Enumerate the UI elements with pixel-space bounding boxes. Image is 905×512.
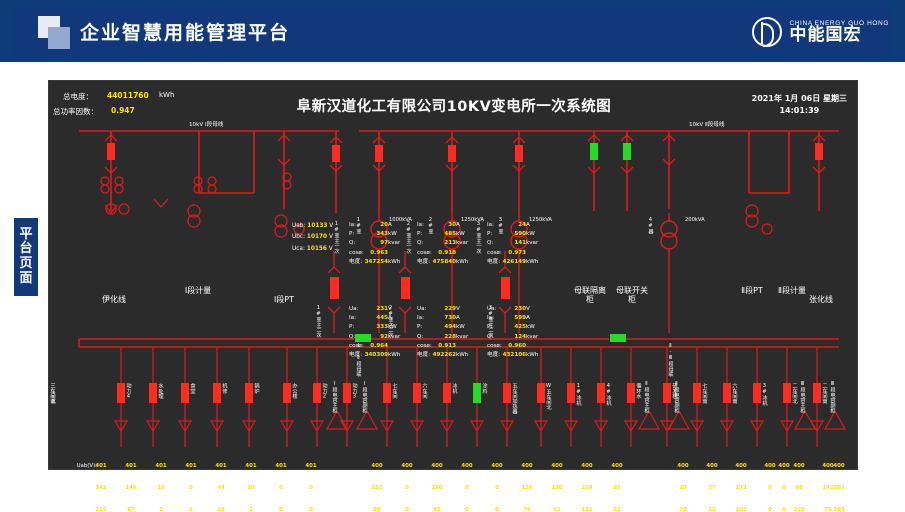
uab-value: 10133 — [307, 223, 327, 229]
lv-meter-3-row-4: cosø:0.960 — [487, 342, 538, 351]
guohong-circle-logo-icon — [752, 17, 782, 47]
hv-meter-1-value-4: 347254 — [362, 258, 388, 267]
table-mid-cell-r1-c1: 400 — [364, 463, 390, 469]
hv-meter-3: Ia:24AP:590kWQ:141kvarcosø:0.973电度:42614… — [487, 221, 538, 267]
transformer-tag-1: 1#变 — [355, 217, 360, 234]
hv-meter-2-row-1: P:485kW — [417, 230, 468, 239]
table-mid-cell-r2-c9: 95 — [604, 485, 630, 491]
lv-meter-3-value-5: 432106 — [500, 351, 526, 360]
table-right-cell-r3-c1: 20 — [670, 507, 696, 512]
table-left-cell-r3-c8: 0 — [298, 507, 324, 512]
uca-label: Uca: — [292, 246, 305, 252]
table-right-cell-r1-c1: 400 — [670, 463, 696, 469]
hv-meter-2-value-1: 485 — [430, 230, 456, 239]
lv-meter-3-unit-2: kW — [526, 323, 535, 332]
lv-meter-3-key-5: 电度: — [487, 351, 500, 360]
hv-meter-2-key-3: cosø: — [417, 249, 430, 258]
lv-meter-1-value-5: 340309 — [362, 351, 388, 360]
table-left-cell-r1-c4: 401 — [178, 463, 204, 469]
table-mid-cell-r1-c5: 400 — [484, 463, 510, 469]
lv-meter-2-value-3: 228 — [430, 333, 456, 342]
hv-meter-2-row-3: cosø:0.918 — [417, 249, 468, 258]
table-left-cell-r1-c3: 401 — [148, 463, 174, 469]
table-mid-cell-r3-c8: 121 — [574, 507, 600, 512]
table-right-cell-r3-c3: 102 — [728, 507, 754, 512]
hv-meter-2-value-2: 213 — [430, 239, 456, 248]
hv-meter-2-unit-1: kW — [456, 230, 465, 239]
lv-meter-2-key-3: Q: — [417, 333, 430, 342]
ubc-value: 10170 — [307, 234, 327, 240]
transformer-kva-4: 200kVA — [685, 217, 705, 223]
table-mid-cell-r1-c7: 400 — [544, 463, 570, 469]
table-left-cell-r2-c6: 10 — [238, 485, 264, 491]
hv-meter-3-row-2: Q:141kvar — [487, 239, 538, 248]
table-mid-cell-r2-c3: 150 — [424, 485, 450, 491]
table-left-cell-r2-c1: 342 — [88, 485, 114, 491]
lv-meter-3-value-0: 230 — [500, 305, 526, 314]
lv-meter-3-unit-3: kvar — [526, 333, 538, 342]
hv-meter-1-value-1: 343 — [362, 230, 388, 239]
hv-meter-3-unit-2: kvar — [526, 239, 538, 248]
table-right-cell-r3-c8: 303 — [826, 507, 852, 512]
hv-meter-2: Ia:30AP:485kWQ:213kvarcosø:0.918电度:47584… — [417, 221, 468, 267]
tie-label-2-3: Ⅱ-Ⅲ段母联 — [667, 343, 672, 377]
lv-meter-3-value-2: 425 — [500, 323, 526, 332]
hv-meter-1-value-0: 20 — [362, 221, 388, 230]
hv-winding-label-1: 1#变主一次 — [333, 221, 338, 254]
lv-meter-3-row-5: 电度:432106kWh — [487, 351, 538, 360]
table-mid-cell-r2-c4: 0 — [454, 485, 480, 491]
table-right-cell-r1-c2: 400 — [699, 463, 725, 469]
hv-meter-2-key-2: Q: — [417, 239, 430, 248]
hv-meter-2-unit-0: A — [456, 221, 460, 230]
lv-meter-2-unit-2: kW — [456, 323, 465, 332]
table-left-cell-r3-c6: 1 — [238, 507, 264, 512]
table-mid-cell-r1-c3: 400 — [424, 463, 450, 469]
clock-date: 2021年 1月 06日 星期三 — [752, 93, 847, 105]
hv-meter-1-key-4: 电度: — [349, 258, 362, 267]
hv-meter-1-unit-4: kWh — [388, 258, 400, 267]
table-right-cell-r2-c3: 173 — [728, 485, 754, 491]
table-right-cell-r3-c7: 0 — [771, 507, 797, 512]
lv-meter-3-row-3: Q:124kvar — [487, 333, 538, 342]
lv-meter-3-unit-1: A — [526, 314, 530, 323]
hv-meter-3-key-3: cosø: — [487, 249, 500, 258]
brand-logo: CHINA ENERGY GUO HONG 中能国宏 — [752, 12, 889, 52]
table-mid-cell-r1-c2: 400 — [394, 463, 420, 469]
hv-meter-1-row-4: 电度:347254kWh — [349, 258, 400, 267]
lv-meter-2-value-4: 0.913 — [430, 342, 456, 351]
hv-meter-1-unit-1: kW — [388, 230, 397, 239]
hv-meter-3-value-3: 0.973 — [500, 249, 526, 258]
uca-value: 10156 — [307, 246, 327, 252]
lv-meter-2-row-4: cosø:0.913 — [417, 342, 468, 351]
hv-cabinet-label-5[interactable]: 母联开关柜 — [615, 287, 649, 305]
lv-meter-2-key-1: Ia: — [417, 314, 430, 323]
transformer-tag-4: 4#器 — [647, 217, 652, 234]
lv-meter-2-unit-5: kWh — [456, 351, 468, 360]
lv-meter-3-value-3: 124 — [500, 333, 526, 342]
lv-meter-2-unit-1: A — [456, 314, 460, 323]
hv-meter-2-unit-4: kWh — [456, 258, 468, 267]
hv-meter-3-value-0: 24 — [500, 221, 526, 230]
hv-meter-3-row-4: 电度:426149kWh — [487, 258, 538, 267]
hv-winding-label-3: 3#变主一次 — [475, 221, 480, 254]
lv-meter-1-value-2: 333 — [362, 323, 388, 332]
square-logo-icon-2 — [48, 27, 70, 49]
lv-meter-1-value-3: 92 — [362, 333, 388, 342]
table-mid-cell-r2-c7: 130 — [544, 485, 570, 491]
table-mid-cell-r1-c9: 400 — [604, 463, 630, 469]
lv-meter-2-row-5: 电度:492262kWh — [417, 351, 468, 360]
table-mid-cell-r3-c7: 51 — [544, 507, 570, 512]
table-right-cell-r2-c2: 37 — [699, 485, 725, 491]
table-left-cell-r3-c7: 0 — [268, 507, 294, 512]
bus-label-10kv-section2: 10kV Ⅱ段母线 — [689, 120, 725, 128]
hv-meter-2-row-4: 电度:475840kWh — [417, 258, 468, 267]
hv-meter-3-row-1: P:590kW — [487, 230, 538, 239]
hv-meter-3-unit-4: kWh — [526, 258, 538, 267]
clock-time: 14:01:39 — [752, 105, 847, 117]
table-left-cell-r3-c4: 1 — [178, 507, 204, 512]
hv-cabinet-label-1[interactable]: 伊化线 — [97, 296, 131, 305]
uab-label: Uab: — [292, 223, 305, 229]
hv-cabinet-label-2[interactable]: Ⅰ段计量 — [181, 287, 215, 296]
lv-winding-label-3: 3#变主二次 — [487, 305, 492, 338]
table-right-cell-r1-c7: 400 — [771, 463, 797, 469]
transformer-kva-2: 1250kVA — [461, 217, 484, 223]
lv-meter-2-unit-0: V — [456, 305, 460, 314]
hv-meter-2-value-4: 475840 — [430, 258, 456, 267]
hv-winding-label-2: 2#变主一次 — [405, 221, 410, 254]
hv-meter-2-key-4: 电度: — [417, 258, 430, 267]
app-header: 企业智慧用能管理平台 CHINA ENERGY GUO HONG 中能国宏 — [0, 0, 905, 62]
table-left-cell-r2-c8: 0 — [298, 485, 324, 491]
lv-meter-3-key-4: cosø: — [487, 342, 500, 351]
hv-cabinet-label-4[interactable]: 母联隔离柜 — [573, 287, 607, 305]
lv-meter-3-value-4: 0.960 — [500, 342, 526, 351]
table-right-cell-r1-c8: 400 — [826, 463, 852, 469]
lv-meter-2-key-2: P: — [417, 323, 430, 332]
hv-meter-3-value-1: 590 — [500, 230, 526, 239]
hv-meter-3-row-3: cosø:0.973 — [487, 249, 538, 258]
table-left-cell-r2-c4: 0 — [178, 485, 204, 491]
hv-meter-1-row-2: Q:97kvar — [349, 239, 400, 248]
clock-widget: 2021年 1月 06日 星期三 14:01:39 — [752, 93, 847, 117]
table-left-cell-r2-c7: 0 — [268, 485, 294, 491]
table-left-cell-r1-c7: 401 — [268, 463, 294, 469]
table-mid-cell-r2-c5: 0 — [484, 485, 510, 491]
hv-meter-2-value-0: 30 — [430, 221, 456, 230]
hv-cabinet-label-3[interactable]: Ⅰ段PT — [267, 296, 301, 305]
transformer-tag-3: 3#变 — [497, 217, 502, 234]
table-mid-cell-r2-c2: 0 — [394, 485, 420, 491]
hv-cabinet-label-8[interactable]: 张化线 — [804, 296, 838, 305]
lv-meter-2-row-2: P:494kW — [417, 323, 468, 332]
table-mid-cell-r1-c8: 400 — [574, 463, 600, 469]
sidebar-item-platform-page[interactable]: 平台页面 — [14, 218, 38, 296]
table-mid-cell-r3-c3: 95 — [424, 507, 450, 512]
table-right-cell-r2-c8: 303 — [826, 485, 852, 491]
table-right-cell-r1-c3: 400 — [728, 463, 754, 469]
table-right-cell-r2-c7: 0 — [771, 485, 797, 491]
lv-meter-3-unit-0: V — [526, 305, 530, 314]
table-left-cell-r3-c5: 29 — [208, 507, 234, 512]
table-right-cell-r2-c1: 15 — [670, 485, 696, 491]
hv-meter-1-unit-2: kvar — [388, 239, 400, 248]
bus-label-10kv-section1: 10kV Ⅰ段母线 — [189, 120, 223, 128]
hv-meter-3-unit-1: kW — [526, 230, 535, 239]
hv-meter-3-key-2: Q: — [487, 239, 500, 248]
transformer-kva-3: 1250kVA — [529, 217, 552, 223]
brand-chinese-name: 中能国宏 — [789, 27, 889, 45]
app-root: 企业智慧用能管理平台 CHINA ENERGY GUO HONG 中能国宏 平台… — [0, 0, 905, 512]
table-left-cell-r1-c1: 401 — [88, 463, 114, 469]
lv-meter-1-value-1: 445 — [362, 314, 388, 323]
lv-meter-2-row-1: Ia:730A — [417, 314, 468, 323]
lv-meter-1-key-1: Ia: — [349, 314, 362, 323]
measurement-table: Uab(V):Ia(A):P(kW):Q(kvar):电度(kWh): 4014… — [49, 381, 859, 471]
transformer-kva-1: 1000kVA — [389, 217, 412, 223]
hv-meter-3-value-2: 141 — [500, 239, 526, 248]
lv-meter-2-value-2: 494 — [430, 323, 456, 332]
lv-meter-2-row-0: Ua:229V — [417, 305, 468, 314]
table-left-cell-r3-c2: 87 — [118, 507, 144, 512]
lv-meter-2-row-3: Q:228kvar — [417, 333, 468, 342]
lv-meter-2-value-0: 229 — [430, 305, 456, 314]
lv-meter-3-row-2: P:425kW — [487, 323, 538, 332]
lv-meter-3-unit-5: kWh — [526, 351, 538, 360]
hv-cabinet-label-6[interactable]: Ⅱ段PT — [735, 287, 769, 296]
lv-meter-2-unit-3: kvar — [456, 333, 468, 342]
lv-meter-2-key-5: 电度: — [417, 351, 430, 360]
table-mid-cell-r3-c4: 0 — [454, 507, 480, 512]
table-mid-cell-r2-c8: 224 — [574, 485, 600, 491]
lv-meter-1-key-0: Ua: — [349, 305, 362, 314]
transformer-tag-2: 2#变 — [427, 217, 432, 234]
hv-meter-2-unit-2: kvar — [456, 239, 468, 248]
lv-meter-2-key-0: Ua: — [417, 305, 430, 314]
table-left-cell-r3-c1: 215 — [88, 507, 114, 512]
diagram-title: 阜新汉道化工有限公司10KV变电所一次系统图 — [49, 95, 859, 116]
table-left-cell-r1-c6: 401 — [238, 463, 264, 469]
tie-label-1-2: Ⅰ-Ⅱ段母联 — [355, 343, 360, 377]
lv-meter-2-key-4: cosø: — [417, 342, 430, 351]
table-mid-cell-r1-c4: 400 — [454, 463, 480, 469]
lv-winding-label-1: 1#变主二次 — [315, 305, 320, 338]
hv-meter-1-value-2: 97 — [362, 239, 388, 248]
hv-meter-1-row-3: cosø:0.963 — [349, 249, 400, 258]
table-mid-cell-r3-c6: 76 — [514, 507, 540, 512]
hv-meter-2-value-3: 0.918 — [430, 249, 456, 258]
hv-meter-3-key-4: 电度: — [487, 258, 500, 267]
lv-meter-3: Ua:230VIa:599AP:425kWQ:124kvarcosø:0.960… — [487, 305, 538, 360]
lv-meter-3-row-1: Ia:599A — [487, 314, 538, 323]
table-left-cell-r2-c3: 10 — [148, 485, 174, 491]
lv-meter-1-key-3: Q: — [349, 333, 362, 342]
lv-meter-2-value-1: 730 — [430, 314, 456, 323]
lv-meter-3-value-1: 599 — [500, 314, 526, 323]
lv-meter-1-value-0: 231 — [362, 305, 388, 314]
table-mid-cell-r3-c2: 0 — [394, 507, 420, 512]
lv-meter-1-value-4: 0.964 — [362, 342, 388, 351]
hv-meter-1-key-3: cosø: — [349, 249, 362, 258]
table-mid-cell-r3-c1: 88 — [364, 507, 390, 512]
hv-meter-1-value-3: 0.963 — [362, 249, 388, 258]
lv-meter-1-key-2: P: — [349, 323, 362, 332]
table-mid-cell-r3-c9: 52 — [604, 507, 630, 512]
page-title: 企业智慧用能管理平台 — [80, 18, 290, 45]
table-left-cell-r1-c5: 401 — [208, 463, 234, 469]
hv-meter-1-key-2: Q: — [349, 239, 362, 248]
table-mid-cell-r1-c6: 400 — [514, 463, 540, 469]
lv-winding-label-2: 2#变主二次 — [387, 305, 392, 338]
table-left-cell-r2-c5: 44 — [208, 485, 234, 491]
table-left-cell-r2-c2: 146 — [118, 485, 144, 491]
table-left-cell-r3-c3: 3 — [148, 507, 174, 512]
table-left-cell-r1-c8: 401 — [298, 463, 324, 469]
table-left-cell-r1-c2: 401 — [118, 463, 144, 469]
hv-cabinet-label-7[interactable]: Ⅱ段计量 — [775, 287, 809, 296]
table-mid-cell-r3-c5: 0 — [484, 507, 510, 512]
table-right-cell-r3-c2: 13 — [699, 507, 725, 512]
lv-meter-3-row-0: Ua:230V — [487, 305, 538, 314]
hv-meter-2-row-2: Q:213kvar — [417, 239, 468, 248]
hv-meter-3-value-4: 426149 — [500, 258, 526, 267]
table-mid-cell-r2-c6: 126 — [514, 485, 540, 491]
single-line-diagram-panel: 总电度： 44011760 kWh 总功率因数： 0.947 阜新汉道化工有限公… — [48, 80, 858, 470]
table-mid-cell-r2-c1: 151 — [364, 485, 390, 491]
bus-voltage-block: Uab: 10133 V Ubc: 10170 V Uca: 10156 V — [292, 221, 333, 255]
ubc-label: Ubc: — [292, 234, 305, 240]
lv-meter-2-value-5: 492262 — [430, 351, 456, 360]
lv-meter-2: Ua:229VIa:730AP:494kWQ:228kvarcosø:0.913… — [417, 305, 468, 360]
lv-meter-1-unit-5: kWh — [388, 351, 400, 360]
